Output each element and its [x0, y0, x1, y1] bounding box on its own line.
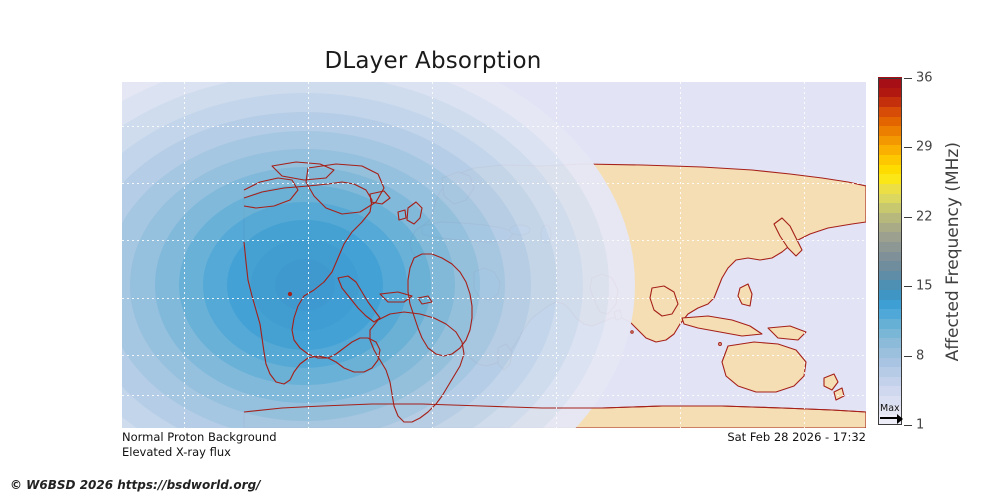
colorbar-band: [878, 135, 902, 145]
colorbar-band: [878, 232, 902, 242]
colorbar-band: [878, 367, 902, 377]
colorbar-tick: [904, 217, 912, 218]
gridline-lon: [804, 82, 805, 428]
max-arrow-head: [897, 414, 903, 424]
gridline-lat: [122, 240, 866, 241]
colorbar-title-text: Affected Frequency (MHz): [943, 142, 963, 361]
colorbar-band: [878, 299, 902, 309]
colorbar-band: [878, 328, 902, 338]
gridline-lon: [308, 82, 309, 428]
colorbar-band: [878, 212, 902, 222]
colorbar-band: [878, 116, 902, 126]
colorbar-band: [878, 193, 902, 203]
colorbar-band: [878, 222, 902, 232]
gridline-lon: [556, 82, 557, 428]
colorbar-tick: [904, 78, 912, 79]
colorbar-band: [878, 386, 902, 396]
world-map: [122, 82, 866, 428]
colorbar-band: [878, 77, 902, 87]
page-title: DLayer Absorption: [0, 48, 866, 74]
colorbar-tick-label: 1: [916, 418, 924, 433]
colorbar-band: [878, 347, 902, 357]
colorbar-band: [878, 145, 902, 155]
gridline-lat: [122, 298, 866, 299]
colorbar-band: [878, 155, 902, 165]
colorbar-band: [878, 261, 902, 271]
colorbar-max-annotation: Max: [879, 404, 903, 426]
footnote-xray-flux: Elevated X-ray flux: [122, 445, 231, 459]
colorbar-band: [878, 106, 902, 116]
gridline-lat: [122, 395, 866, 396]
colorbar-band: [878, 87, 902, 97]
colorbar-band: [878, 97, 902, 107]
credit-line: © W6BSD 2026 https://bsdworld.org/: [10, 478, 261, 492]
colorbar-band: [878, 309, 902, 319]
colorbar-tick-label: 22: [916, 209, 933, 224]
coastline-layer: [122, 82, 866, 428]
gridline-lon: [432, 82, 433, 428]
colorbar-band: [878, 289, 902, 299]
gridline-lat: [122, 126, 866, 127]
gridline-lat: [122, 183, 866, 184]
colorbar-tick: [904, 425, 912, 426]
colorbar-band: [878, 251, 902, 261]
colorbar-tick-label: 29: [916, 140, 933, 155]
colorbar-gradient: [878, 78, 902, 425]
footnote-proton-background: Normal Proton Background: [122, 430, 277, 444]
colorbar-band: [878, 241, 902, 251]
colorbar-title: Affected Frequency (MHz): [941, 78, 965, 425]
colorbar-tick: [904, 356, 912, 357]
colorbar-band: [878, 357, 902, 367]
colorbar-band: [878, 126, 902, 136]
colorbar-band: [878, 164, 902, 174]
colorbar-band: [878, 338, 902, 348]
colorbar-tick-label: 8: [916, 348, 924, 363]
colorbar: Max: [878, 78, 902, 425]
timestamp: Sat Feb 28 2026 - 17:32: [727, 430, 866, 444]
colorbar-band: [878, 174, 902, 184]
gridline-lat: [122, 355, 866, 356]
colorbar-band: [878, 270, 902, 280]
colorbar-band: [878, 280, 902, 290]
gridline-lon: [184, 82, 185, 428]
max-label: Max: [880, 403, 900, 414]
colorbar-band: [878, 376, 902, 386]
colorbar-tick: [904, 147, 912, 148]
colorbar-band: [878, 203, 902, 213]
colorbar-tick-label: 15: [916, 279, 933, 294]
colorbar-band: [878, 183, 902, 193]
gridline-lon: [680, 82, 681, 428]
figure-root: DLayer Absorption: [0, 0, 1000, 500]
colorbar-tick-label: 36: [916, 71, 933, 86]
colorbar-tick: [904, 286, 912, 287]
colorbar-band: [878, 318, 902, 328]
